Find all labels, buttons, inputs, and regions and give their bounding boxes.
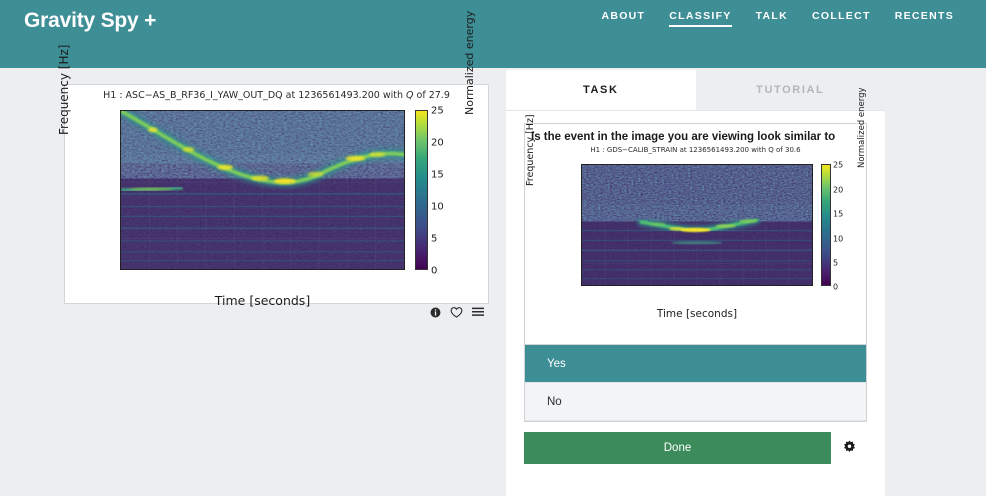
comparison-spectrogram-title: H1 : GDS−CALIB_STRAIN at 1236561493.200 … (529, 146, 862, 154)
comparison-cbtick-0: 0 (833, 283, 838, 292)
heart-icon[interactable] (450, 306, 463, 318)
main-spectrogram-ylabel: Frequency [Hz] (57, 45, 71, 136)
comparison-spectrogram-ylabel: Frequency [Hz] (525, 115, 536, 187)
task-content: Is the event in the image you are viewin… (506, 111, 885, 345)
answer-list: Yes No (524, 345, 867, 422)
comparison-cbtick-20: 20 (833, 185, 843, 194)
nav-link-classify[interactable]: CLASSIFY (669, 10, 731, 27)
main-cbtick-10: 10 (431, 202, 444, 213)
page-body: H1 : ASC−AS_B_RF36_I_YAW_OUT_DQ at 12365… (0, 68, 986, 496)
comparison-spectrogram-canvas (582, 165, 812, 285)
main-cbtick-25: 25 (431, 106, 444, 117)
nav-link-talk[interactable]: TALK (756, 10, 788, 27)
main-spectrogram-title: H1 : ASC−AS_B_RF36_I_YAW_OUT_DQ at 12365… (65, 90, 488, 101)
main-spectrogram-axes: 100 10 -0.5 -0.4 -0.3 -0.2 -0.1 0 0.1 0.… (120, 110, 405, 270)
main-cbtick-15: 15 (431, 170, 444, 181)
main-spectrogram-canvas (121, 111, 404, 269)
main-cbtick-0: 0 (431, 266, 437, 277)
subject-image-card[interactable]: H1 : ASC−AS_B_RF36_I_YAW_OUT_DQ at 12365… (64, 84, 489, 304)
comparison-spectrogram-axes: 10³ 100 10 -0.5 -0.4 -0.3 -0.2 -0.1 0 0.… (581, 164, 813, 286)
comparison-spectrogram: H1 : GDS−CALIB_STRAIN at 1236561493.200 … (529, 146, 862, 344)
nav-link-recents[interactable]: RECENTS (895, 10, 954, 27)
site-header: Gravity Spy + ABOUT CLASSIFY TALK COLLEC… (0, 0, 986, 68)
main-cbtick-5: 5 (431, 234, 437, 245)
main-spectrogram: H1 : ASC−AS_B_RF36_I_YAW_OUT_DQ at 12365… (65, 85, 488, 303)
list-icon[interactable] (472, 307, 484, 318)
subject-toolbar (64, 306, 489, 318)
brand-logo[interactable]: Gravity Spy + (24, 0, 156, 31)
comparison-spectrogram-xlabel: Time [seconds] (581, 308, 813, 320)
comparison-spectrogram-colorbar: 0 5 10 15 20 25 (821, 164, 831, 286)
task-panel: TASK TUTORIAL Is the event in the image … (506, 70, 885, 496)
question-text: Is the event in the image you are viewin… (531, 130, 862, 144)
nav-link-about[interactable]: ABOUT (601, 10, 645, 27)
comparison-cbtick-25: 25 (833, 161, 843, 170)
settings-button[interactable] (831, 432, 867, 464)
main-spectrogram-colorbar-label: Normalized energy (463, 11, 476, 115)
task-footer: Done (524, 432, 867, 464)
done-button[interactable]: Done (524, 432, 831, 464)
task-tab-bar: TASK TUTORIAL (506, 70, 885, 111)
comparison-cbtick-15: 15 (833, 210, 843, 219)
answer-yes[interactable]: Yes (525, 345, 866, 383)
comparison-cbtick-5: 5 (833, 258, 838, 267)
main-spectrogram-colorbar: 0 5 10 15 20 25 (415, 110, 428, 270)
main-cbtick-20: 20 (431, 138, 444, 149)
info-icon[interactable] (430, 307, 441, 318)
question-box: Is the event in the image you are viewin… (524, 123, 867, 345)
comparison-spectrogram-colorbar-label: Normalized energy (857, 88, 867, 169)
nav-link-collect[interactable]: COLLECT (812, 10, 871, 27)
tab-task[interactable]: TASK (506, 70, 696, 110)
main-navigation: ABOUT CLASSIFY TALK COLLECT RECENTS (601, 0, 962, 27)
answer-no[interactable]: No (525, 383, 866, 421)
comparison-cbtick-10: 10 (833, 234, 843, 243)
gear-icon (843, 440, 856, 456)
